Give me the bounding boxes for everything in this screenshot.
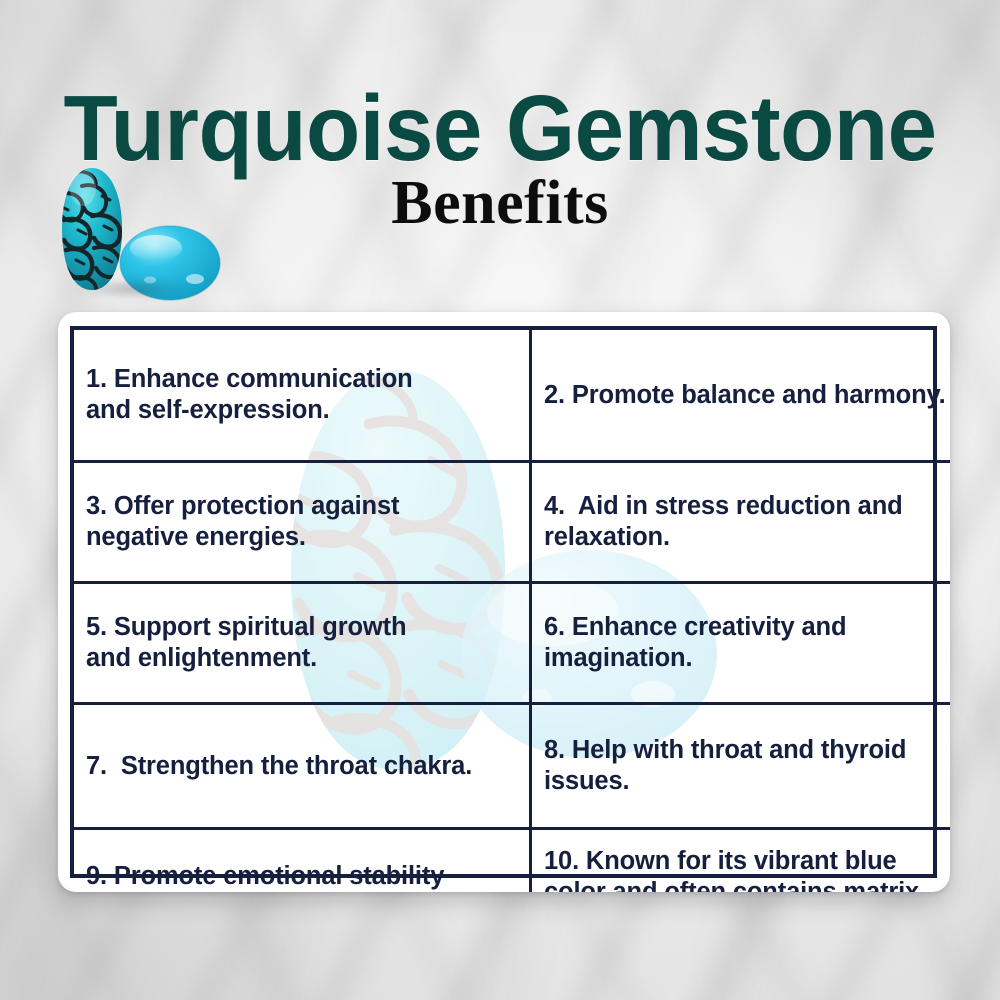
- benefit-cell-10: 10. Known for its vibrant blue color and…: [531, 829, 951, 893]
- benefit-text: 1. Enhance communication and self-expres…: [86, 364, 519, 425]
- benefit-text: 8. Help with throat and thyroid issues.: [544, 735, 950, 796]
- benefit-text: 2. Promote balance and harmony.: [544, 380, 950, 411]
- benefits-table-border: 1. Enhance communication and self-expres…: [70, 326, 937, 878]
- benefit-cell-6: 6. Enhance creativity and imagination.: [531, 583, 951, 704]
- table-row: 5. Support spiritual growth and enlighte…: [74, 583, 950, 704]
- table-row: 7. Strengthen the throat chakra. 8. Help…: [74, 704, 950, 829]
- benefit-cell-9: 9. Promote emotional stability and balan…: [74, 829, 531, 893]
- table-row: 3. Offer protection against negative ene…: [74, 462, 950, 583]
- benefit-text: 3. Offer protection against negative ene…: [86, 491, 519, 552]
- benefit-text: 6. Enhance creativity and imagination.: [544, 612, 950, 673]
- benefit-text: 4. Aid in stress reduction and relaxatio…: [544, 491, 950, 552]
- benefit-text: 5. Support spiritual growth and enlighte…: [86, 612, 519, 673]
- benefit-cell-7: 7. Strengthen the throat chakra.: [74, 704, 531, 829]
- benefit-cell-8: 8. Help with throat and thyroid issues.: [531, 704, 951, 829]
- benefits-table: 1. Enhance communication and self-expres…: [74, 330, 950, 892]
- benefit-text: 7. Strengthen the throat chakra.: [86, 751, 519, 782]
- table-row: 9. Promote emotional stability and balan…: [74, 829, 950, 893]
- benefit-cell-1: 1. Enhance communication and self-expres…: [74, 330, 531, 462]
- benefit-cell-3: 3. Offer protection against negative ene…: [74, 462, 531, 583]
- gemstone-drop-shadow: [58, 278, 208, 300]
- benefit-cell-4: 4. Aid in stress reduction and relaxatio…: [531, 462, 951, 583]
- benefit-cell-2: 2. Promote balance and harmony.: [531, 330, 951, 462]
- benefit-text: 10. Known for its vibrant blue color and…: [544, 846, 950, 892]
- hero-gemstones: [52, 160, 222, 310]
- table-row: 1. Enhance communication and self-expres…: [74, 330, 950, 462]
- benefit-text: 9. Promote emotional stability and balan…: [86, 861, 519, 892]
- benefit-cell-5: 5. Support spiritual growth and enlighte…: [74, 583, 531, 704]
- infographic-canvas: Turquoise Gemstone Benefits: [0, 0, 1000, 1000]
- benefits-card: 1. Enhance communication and self-expres…: [58, 312, 950, 892]
